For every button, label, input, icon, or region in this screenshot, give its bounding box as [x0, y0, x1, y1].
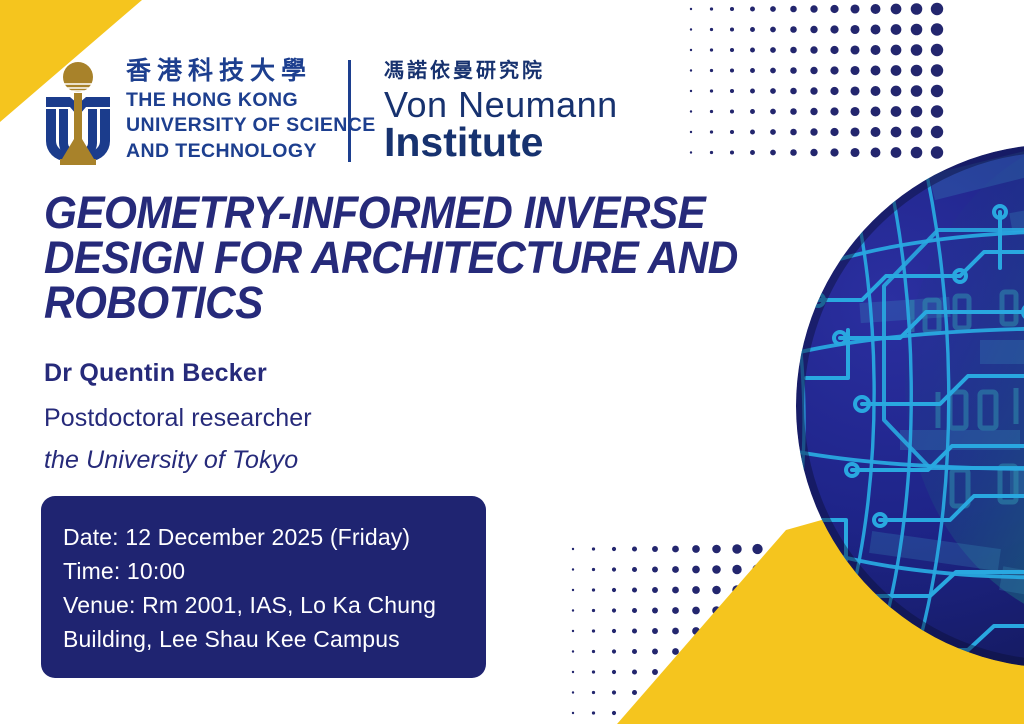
speaker-affiliation: the University of Tokyo	[44, 445, 312, 476]
seminar-poster: 香港科技大學 THE HONG KONG UNIVERSITY OF SCIEN…	[0, 0, 1024, 724]
event-detail-venue-line-1: Venue: Rm 2001, IAS, Lo Ka Chung	[63, 588, 464, 622]
speaker-role: Postdoctoral researcher	[44, 403, 312, 434]
logo-lockup: 香港科技大學 THE HONG KONG UNIVERSITY OF SCIEN…	[44, 55, 376, 167]
speaker-block: Dr Quentin Becker Postdoctoral researche…	[44, 358, 312, 476]
event-detail-venue-line-2: Building, Lee Shau Kee Campus	[63, 622, 464, 656]
event-detail-time: Time: 10:00	[63, 554, 464, 588]
vni-institute-line: Institute	[384, 122, 618, 164]
logo-divider	[348, 60, 351, 162]
vni-chinese-name: 馮諾依曼研究院	[384, 58, 618, 82]
hkust-crest-icon	[44, 59, 112, 167]
hkust-english-line-2: UNIVERSITY OF SCIENCE	[126, 114, 376, 137]
hkust-chinese-name: 香港科技大學	[126, 57, 376, 86]
title-line-1: GEOMETRY-INFORMED INVERSE	[44, 190, 740, 235]
title-line-3: ROBOTICS	[44, 280, 740, 325]
page-title: GEOMETRY-INFORMED INVERSE DESIGN FOR ARC…	[44, 190, 740, 325]
hkust-english-line-1: THE HONG KONG	[126, 89, 376, 112]
hkust-english-line-3: AND TECHNOLOGY	[126, 140, 376, 163]
title-line-2: DESIGN FOR ARCHITECTURE AND	[44, 235, 740, 280]
von-neumann-logo: 馮諾依曼研究院 Von Neumann Institute	[384, 58, 618, 164]
event-details-box: Date: 12 December 2025 (Friday) Time: 10…	[41, 496, 486, 678]
event-detail-date: Date: 12 December 2025 (Friday)	[63, 520, 464, 554]
speaker-name: Dr Quentin Becker	[44, 358, 312, 389]
